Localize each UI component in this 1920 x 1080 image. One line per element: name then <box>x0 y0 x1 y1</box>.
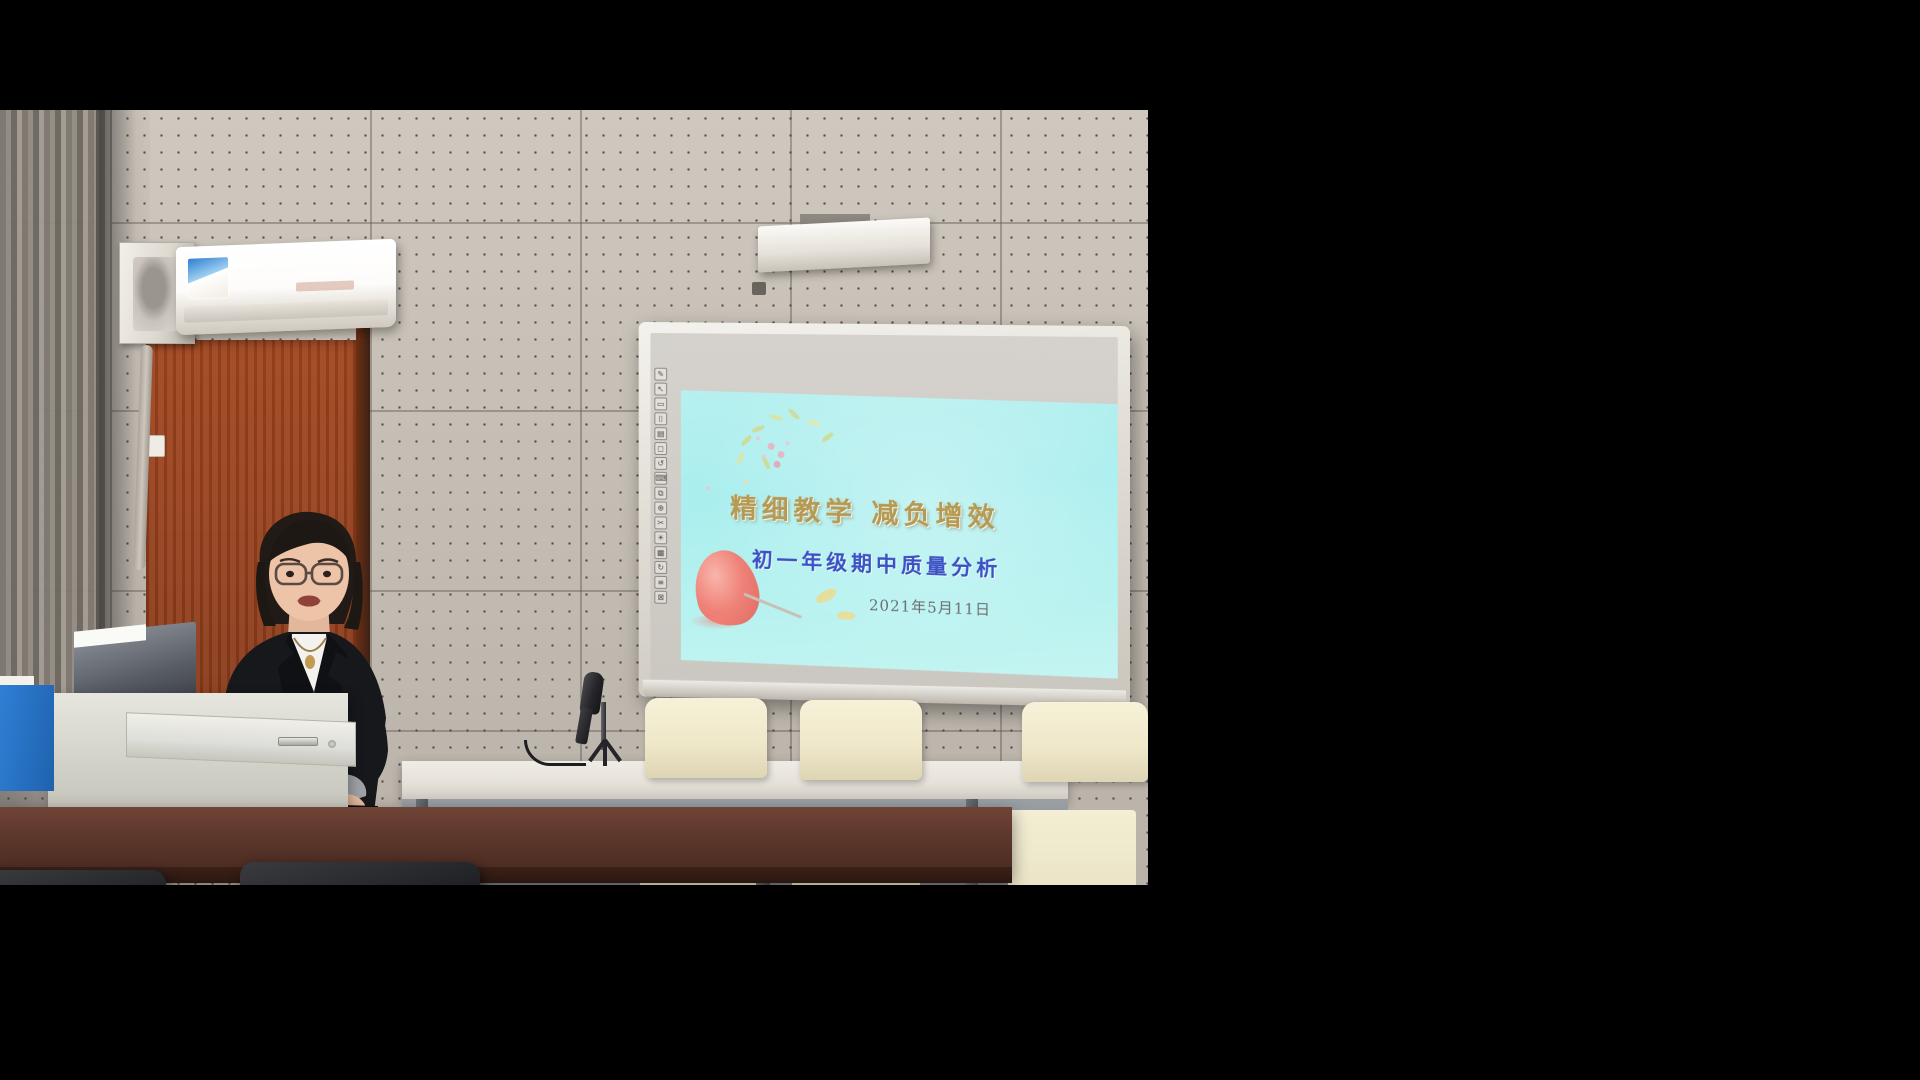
podium-drawer[interactable] <box>126 712 356 767</box>
undo-icon[interactable]: ↺ <box>654 457 667 470</box>
black-chair[interactable] <box>0 870 166 885</box>
page-icon[interactable]: ▤ <box>654 427 667 440</box>
redo-icon[interactable]: ↻ <box>654 561 667 574</box>
ceiling-projector <box>758 217 930 272</box>
microphone-tripod <box>572 740 638 766</box>
curtain-icon[interactable]: ▦ <box>654 546 667 559</box>
air-conditioner <box>176 239 396 335</box>
classroom-photo: 精细教学 减负增效 初一年级期中质量分析 2021年5月11日 ✎↖▭⌷▤◻↺⌨… <box>0 110 1148 885</box>
menu-icon[interactable]: ≡ <box>654 576 667 589</box>
wall-sensor <box>752 282 766 295</box>
spotlight-icon[interactable]: ☀ <box>654 531 667 544</box>
slide-title: 精细教学 减负增效 <box>730 486 1118 540</box>
floral-sprig-decoration <box>726 407 855 483</box>
ac-vent <box>184 299 388 323</box>
slide-date: 2021年5月11日 <box>869 594 991 620</box>
projected-slide: 精细教学 减负增效 初一年级期中质量分析 2021年5月11日 <box>681 390 1118 679</box>
black-chair[interactable] <box>240 862 480 885</box>
screenshot-canvas: 精细教学 减负增效 初一年级期中质量分析 2021年5月11日 ✎↖▭⌷▤◻↺⌨… <box>0 0 1920 1080</box>
drawer-handle[interactable] <box>278 737 318 746</box>
whiteboard-surface[interactable]: 精细教学 减负增效 初一年级期中质量分析 2021年5月11日 <box>650 333 1117 689</box>
ac-display-icon <box>296 280 354 291</box>
slide-subtitle: 初一年级期中质量分析 <box>752 544 1118 590</box>
zoom-icon[interactable]: ⊕ <box>654 501 667 514</box>
cream-chair[interactable] <box>800 700 922 780</box>
chair-skirt <box>1008 810 1136 885</box>
shape-icon[interactable]: ▭ <box>654 397 667 410</box>
drawer-lock-icon <box>328 740 336 748</box>
wall-seam-horizontal <box>0 222 1148 224</box>
keyboard-icon[interactable]: ⌨ <box>654 472 667 485</box>
eraser-icon[interactable]: ◻ <box>654 442 667 455</box>
ac-badge-icon <box>188 257 228 299</box>
select-icon[interactable]: ⌷ <box>654 412 667 425</box>
cream-chair[interactable] <box>1022 702 1148 782</box>
gold-leaf-icon <box>836 609 855 622</box>
close-icon[interactable]: ⊠ <box>654 591 667 604</box>
floral-accent <box>744 480 748 484</box>
tool-icon[interactable]: ✂ <box>654 516 667 529</box>
floral-accent <box>706 486 710 490</box>
gold-leaf-icon <box>814 588 838 605</box>
blue-storage-box <box>0 685 54 791</box>
pen-icon[interactable]: ✎ <box>654 368 667 381</box>
capture-icon[interactable]: ⧉ <box>654 487 667 500</box>
pointer-icon[interactable]: ↖ <box>654 383 667 396</box>
speaker-cone-icon <box>133 257 179 331</box>
cream-chair[interactable] <box>645 698 767 778</box>
interactive-whiteboard[interactable]: 精细教学 减负增效 初一年级期中质量分析 2021年5月11日 ✎↖▭⌷▤◻↺⌨… <box>639 322 1130 708</box>
whiteboard-toolbar[interactable]: ✎↖▭⌷▤◻↺⌨⧉⊕✂☀▦↻≡⊠ <box>652 364 669 664</box>
